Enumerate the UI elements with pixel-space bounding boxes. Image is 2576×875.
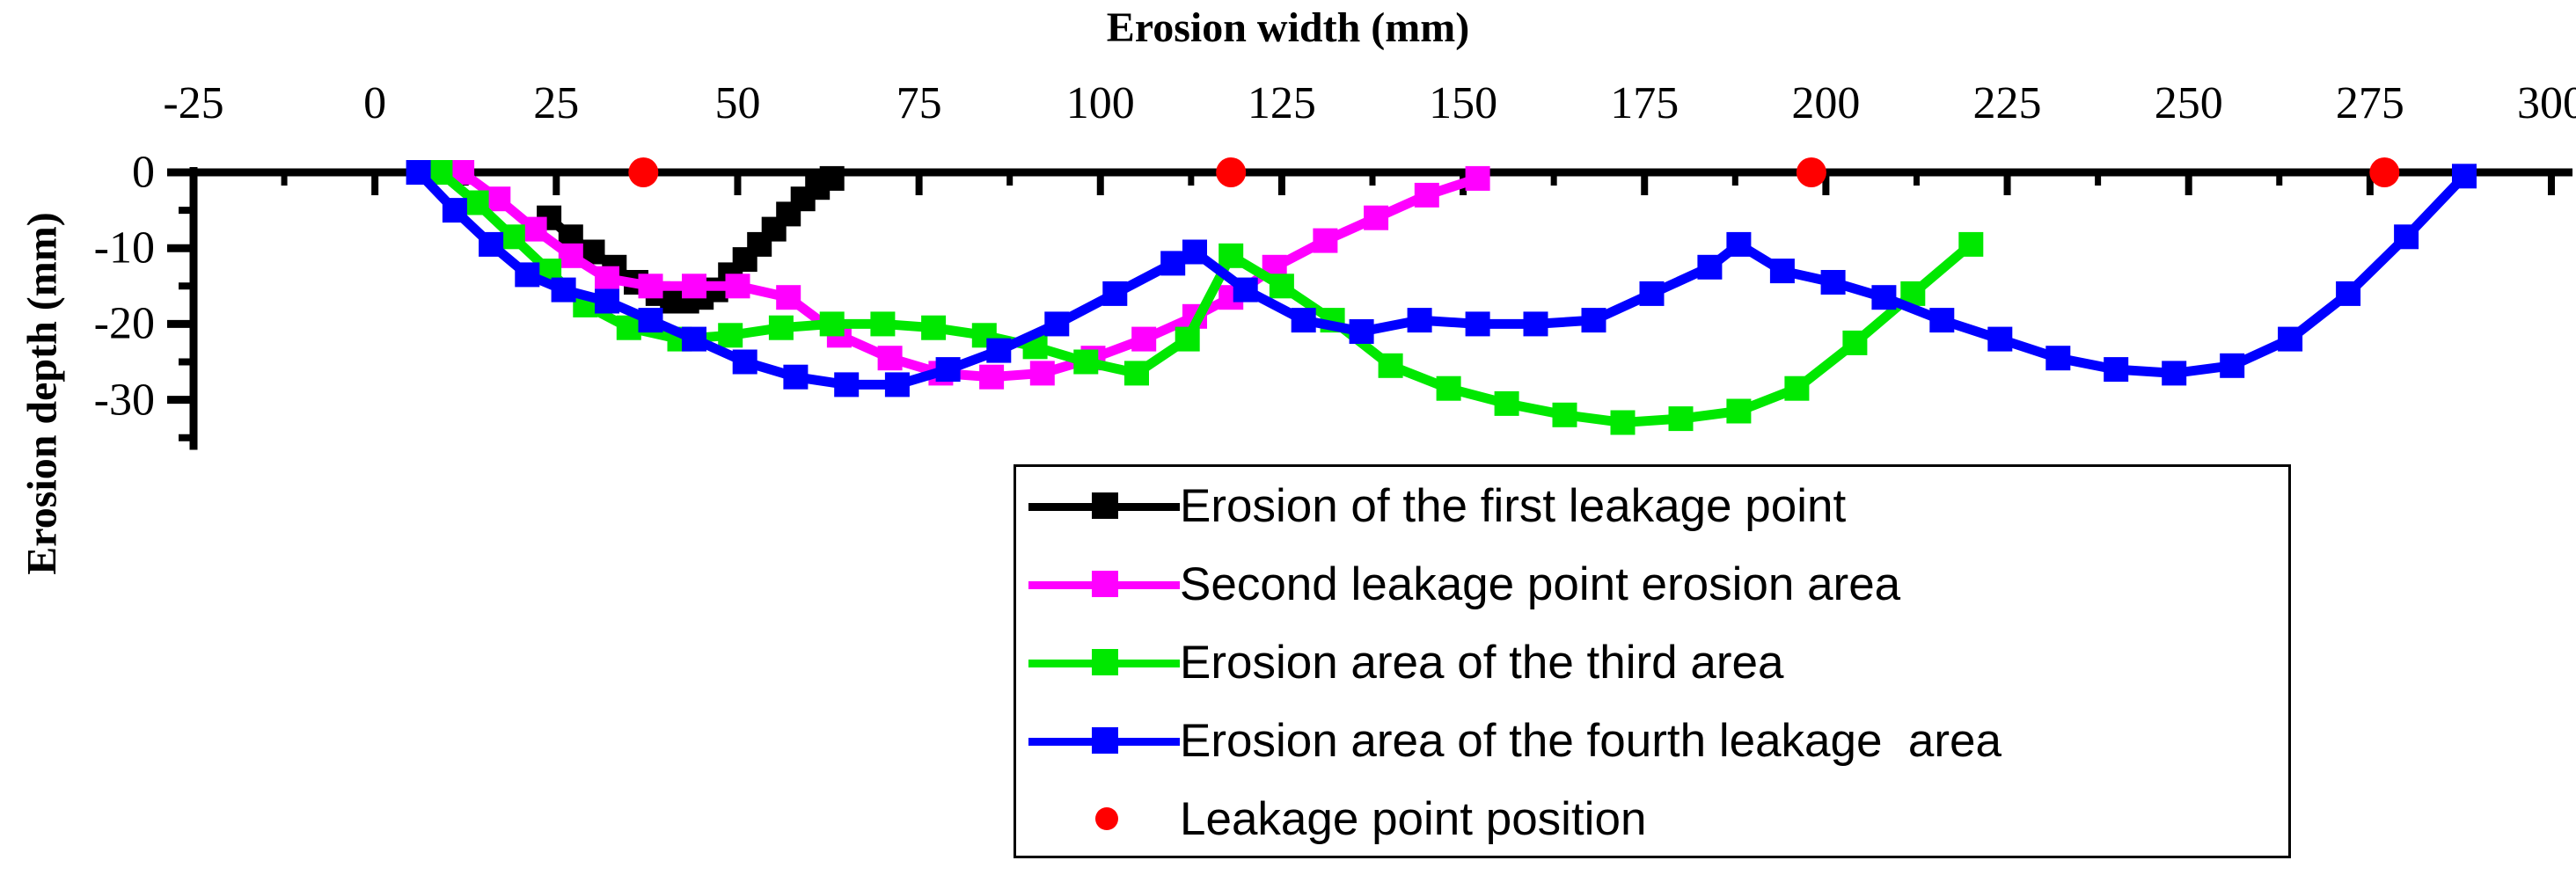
series-marker (1466, 311, 1490, 336)
series-marker (595, 266, 619, 291)
series-marker (820, 166, 845, 191)
series-marker (1784, 376, 1809, 401)
series-marker (921, 316, 946, 340)
series-marker (406, 160, 431, 185)
series-marker (1821, 270, 1846, 295)
series-marker (559, 244, 583, 268)
series-marker (639, 273, 663, 298)
legend-item-label: Erosion area of the third area (1180, 639, 1783, 686)
series-marker (523, 217, 547, 242)
series-marker (733, 350, 757, 375)
series-marker (718, 323, 743, 347)
series-marker (1582, 308, 1606, 332)
series-marker (1182, 240, 1207, 265)
series-marker (2278, 327, 2302, 352)
series-marker (2220, 354, 2244, 378)
series-marker (1929, 308, 1954, 332)
leakage-point-marker (1216, 157, 1246, 187)
series-marker (465, 191, 489, 215)
series-marker (595, 289, 619, 314)
series-marker (1292, 308, 1316, 332)
series-marker (1770, 259, 1795, 283)
leakage-point-marker (628, 157, 658, 187)
series-marker (1640, 281, 1665, 306)
series-marker (1871, 285, 1896, 310)
series-marker (1350, 319, 1374, 344)
series-marker (870, 311, 895, 336)
series-marker (726, 273, 750, 298)
leakage-point-marker (2369, 157, 2399, 187)
legend-key (1028, 793, 1180, 846)
legend-item[interactable]: Second leakage point erosion area (1016, 545, 2288, 623)
series-marker (1131, 327, 1156, 352)
legend-item-label: Second leakage point erosion area (1180, 561, 1900, 608)
series-marker (486, 186, 510, 211)
legend-key (1028, 715, 1180, 768)
series-marker (1415, 183, 1439, 208)
series-marker (769, 316, 794, 340)
legend-square-marker-icon (1092, 649, 1118, 675)
series-marker (1408, 308, 1432, 332)
legend-key (1028, 637, 1180, 689)
legend-item[interactable]: Erosion of the first leakage point (1016, 467, 2288, 545)
series-marker (1270, 273, 1294, 298)
series-marker (1726, 399, 1751, 424)
series-marker (2045, 346, 2070, 370)
legend-square-marker-icon (1092, 492, 1118, 519)
series-marker (1611, 411, 1636, 435)
legend-key (1028, 558, 1180, 611)
series-1 (450, 160, 1490, 390)
series-marker (979, 365, 1004, 390)
series-marker (1124, 361, 1149, 385)
series-marker (1073, 350, 1098, 375)
series-marker (986, 339, 1011, 363)
series-marker (1495, 391, 1519, 416)
series-marker (1044, 311, 1069, 336)
series-marker (1524, 311, 1548, 336)
series-marker (1175, 327, 1200, 352)
series-marker (1160, 251, 1185, 275)
series-marker (1364, 206, 1388, 230)
series-marker (515, 262, 539, 287)
series-marker (834, 372, 859, 397)
series-marker (2452, 164, 2477, 188)
series-marker (1313, 229, 1337, 253)
series-marker (479, 232, 503, 257)
series-marker (885, 372, 910, 397)
series-marker (2162, 361, 2186, 385)
legend-square-marker-icon (1092, 571, 1118, 597)
legend-item[interactable]: Erosion area of the fourth leakage area (1016, 702, 2288, 780)
series-marker (776, 285, 801, 310)
legend-item-label: Erosion area of the fourth leakage area (1180, 718, 2002, 764)
series-marker (2394, 224, 2419, 249)
series-marker (1102, 281, 1127, 306)
series-marker (1842, 331, 1867, 355)
legend-key (1028, 480, 1180, 533)
legend-item[interactable]: Leakage point position (1016, 780, 2288, 858)
legend-item-label: Leakage point position (1180, 796, 1646, 842)
series-marker (936, 357, 961, 382)
legend-dot-icon (1095, 807, 1118, 830)
series-marker (1030, 361, 1055, 385)
chart-figure: Erosion width (mm) Erosion depth (mm) -2… (0, 0, 2576, 875)
series-marker (1697, 255, 1722, 280)
series-marker (1669, 406, 1694, 431)
series-marker (2336, 281, 2360, 306)
series-marker (639, 308, 663, 332)
series-marker (1466, 166, 1490, 191)
series-marker (501, 224, 525, 249)
legend-square-marker-icon (1092, 727, 1118, 754)
series-marker (682, 273, 706, 298)
series-marker (443, 198, 467, 222)
leakage-point-marker (1797, 157, 1826, 187)
series-marker (1987, 327, 2012, 352)
series-marker (1218, 244, 1243, 268)
series-marker (820, 311, 845, 336)
series-marker (1379, 354, 1403, 378)
series-marker (783, 365, 808, 390)
series-marker (1233, 278, 1258, 303)
series-marker (1437, 376, 1461, 401)
series-marker (682, 327, 706, 352)
series-marker (1553, 403, 1577, 427)
series-marker (552, 278, 576, 303)
series-marker (878, 346, 903, 370)
series-marker (1726, 232, 1751, 257)
chart-legend: Erosion of the first leakage pointSecond… (1014, 464, 2291, 858)
series-marker (1958, 232, 1983, 257)
legend-item[interactable]: Erosion area of the third area (1016, 623, 2288, 702)
series-marker (2104, 357, 2128, 382)
legend-item-label: Erosion of the first leakage point (1180, 483, 1846, 529)
